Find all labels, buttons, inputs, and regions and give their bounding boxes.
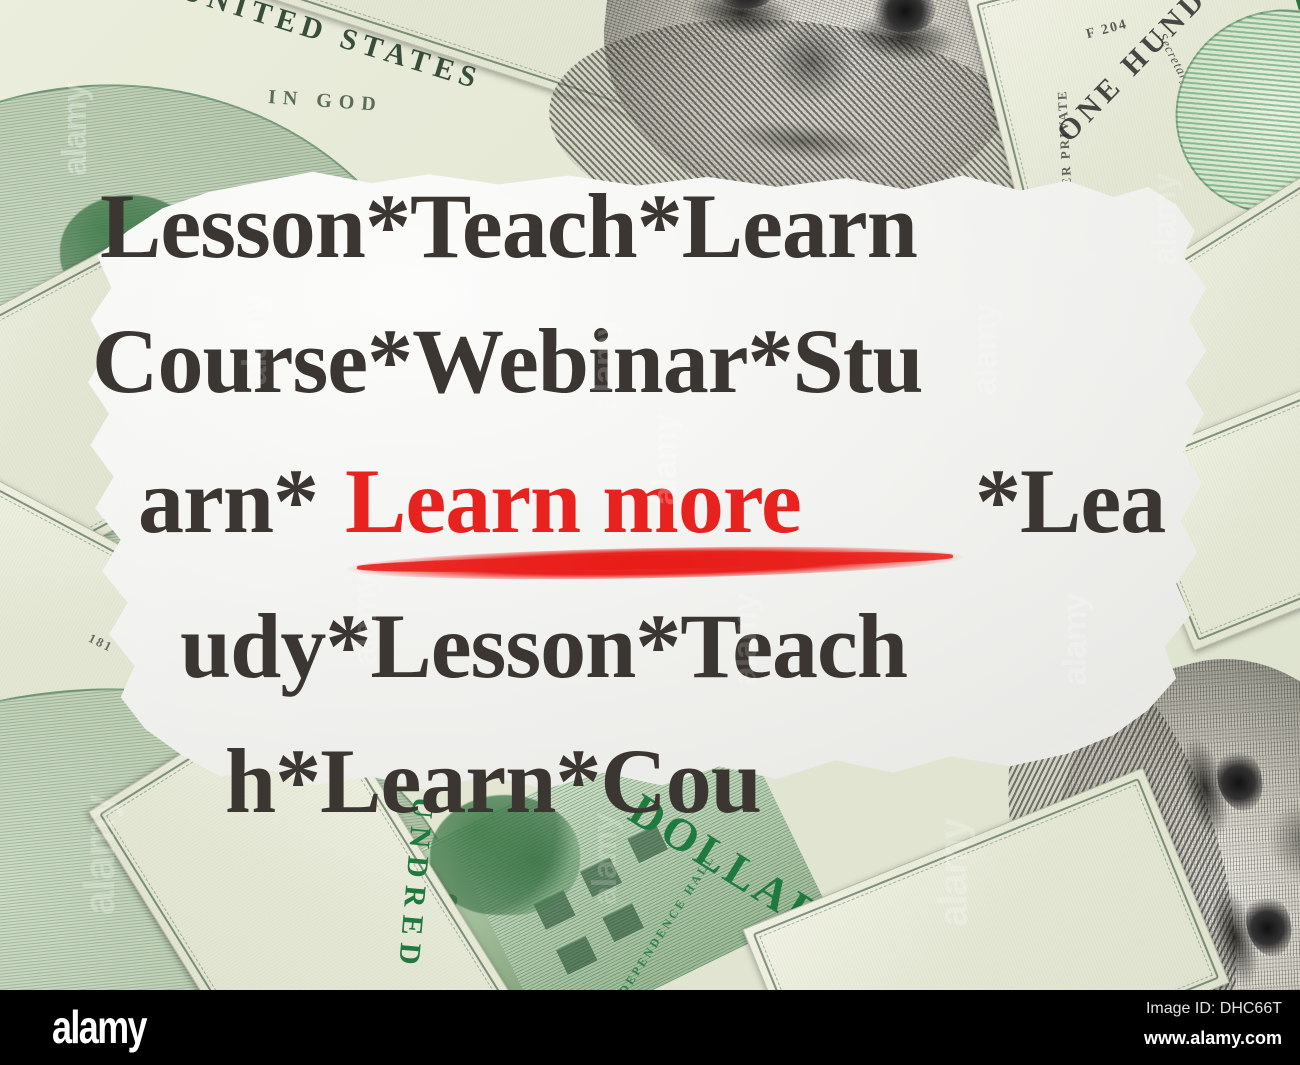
bill-tree-foliage-center bbox=[430, 795, 580, 915]
torn-paper-note bbox=[58, 168, 1218, 798]
image-id-label: Image ID: DHC66T bbox=[1146, 1000, 1282, 1018]
alamy-website-link[interactable]: www.alamy.com bbox=[1144, 1028, 1282, 1049]
stock-photo-canvas: UNITED STATES IN GOD HD 26119118 F 204 S… bbox=[0, 0, 1300, 1065]
alamy-logo[interactable]: alamy bbox=[52, 1000, 146, 1054]
alamy-footer-bar bbox=[0, 990, 1300, 1065]
